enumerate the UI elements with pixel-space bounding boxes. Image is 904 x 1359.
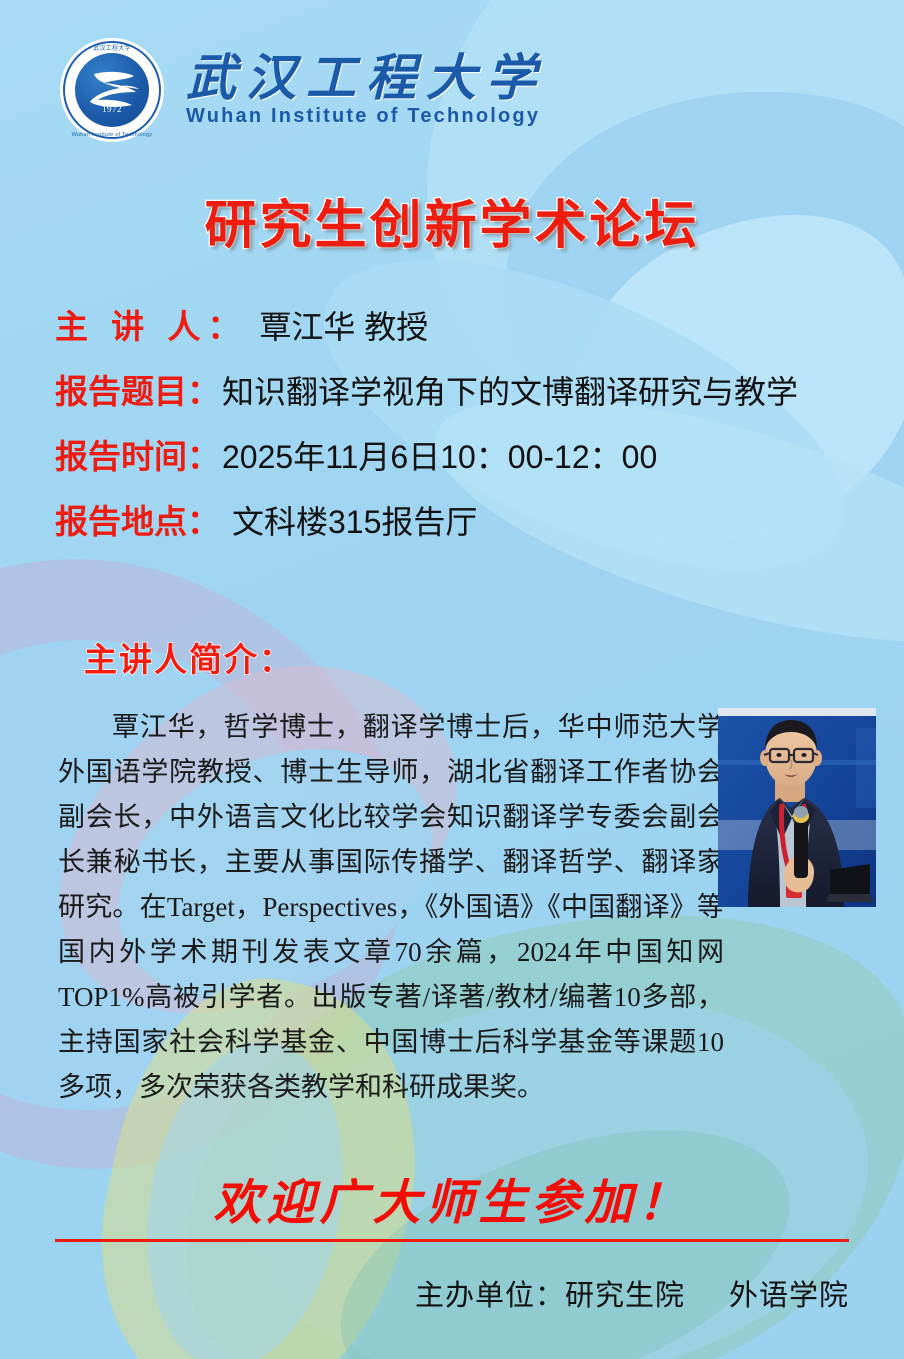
- footer-org-2: 外语学院: [729, 1280, 849, 1312]
- divider-rule: [55, 1239, 849, 1242]
- university-seal-icon: 武汉工程大学 1972 Wuhan Institute of Technolog…: [60, 38, 164, 142]
- info-label-topic: 报告题目：: [55, 365, 220, 413]
- info-value-speaker: 覃江华 教授: [259, 302, 428, 348]
- info-row-time: 报告时间： 2025年11月6日10：00-12：00: [55, 430, 864, 478]
- footer-org-1: 研究生院: [565, 1280, 685, 1312]
- info-value-topic: 知识翻译学视角下的文博翻译研究与教学: [222, 367, 798, 413]
- university-name-en: Wuhan Institute of Technology: [186, 105, 546, 128]
- poster: 武汉工程大学 1972 Wuhan Institute of Technolog…: [0, 0, 904, 1359]
- poster-header: 武汉工程大学 1972 Wuhan Institute of Technolog…: [60, 38, 546, 142]
- info-label-venue: 报告地点：: [55, 495, 220, 543]
- footer-label: 主办单位：: [415, 1280, 565, 1312]
- seal-arc-top-label: 武汉工程大学: [60, 43, 164, 52]
- info-label-speaker: 主 讲 人：: [55, 300, 247, 348]
- info-row-speaker: 主 讲 人： 覃江华 教授: [55, 300, 864, 348]
- info-row-venue: 报告地点： 文科楼315报告厅: [55, 495, 864, 543]
- bio-text: 覃江华，哲学博士，翻译学博士后，华中师范大学外国语学院教授、博士生导师，湖北省翻…: [58, 705, 724, 1110]
- info-value-venue: 文科楼315报告厅: [232, 497, 477, 543]
- footer-organizers: 主办单位：研究生院外语学院: [0, 1272, 849, 1314]
- welcome-slogan: 欢迎广大师生参加！: [0, 1163, 904, 1233]
- speaker-photo-illustration: [718, 708, 876, 907]
- info-value-time: 2025年11月6日10：00-12：00: [222, 432, 657, 478]
- bio-heading: 主讲人简介：: [84, 633, 294, 681]
- speaker-photo: [718, 708, 876, 907]
- university-name-cn: 武汉工程大学: [186, 53, 546, 103]
- event-info-list: 主 讲 人： 覃江华 教授 报告题目： 知识翻译学视角下的文博翻译研究与教学 报…: [55, 300, 864, 560]
- seal-arc-bottom-label: Wuhan Institute of Technology: [60, 132, 164, 138]
- info-label-time: 报告时间：: [55, 430, 220, 478]
- seal-year-label: 1972: [60, 104, 164, 114]
- info-row-topic: 报告题目： 知识翻译学视角下的文博翻译研究与教学: [55, 365, 864, 413]
- page-title: 研究生创新学术论坛: [0, 183, 904, 258]
